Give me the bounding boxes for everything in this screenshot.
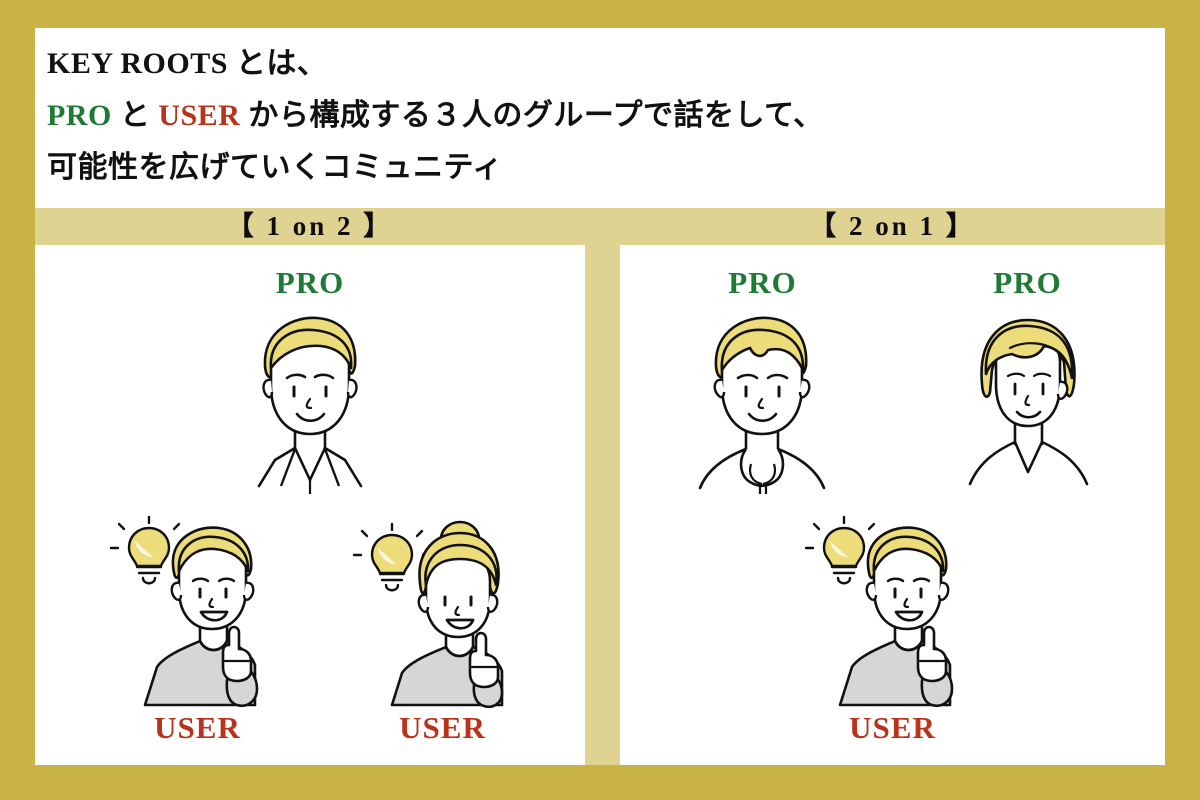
figure-pro-male-collar	[235, 304, 385, 494]
panel-two-on-one: PRO	[620, 245, 1165, 765]
section-title-one-on-two: 【 1 on 2 】	[35, 206, 585, 246]
role-label-user: USER	[785, 712, 1000, 743]
role-label-user: USER	[335, 712, 550, 743]
person-user1-one-on-two: USER	[90, 515, 305, 743]
headline-block: KEY ROOTS とは、 PRO と USER から構成する３人のグループで話…	[47, 38, 1147, 194]
person-pro2-two-on-one: PRO	[920, 267, 1135, 494]
role-label-user: USER	[90, 712, 305, 743]
headline-line-2-tail: から構成する３人のグループで話をして、	[240, 99, 823, 132]
panel-divider	[585, 208, 620, 765]
panel-one-on-two: PRO	[35, 245, 585, 765]
person-pro1-two-on-one: PRO	[655, 267, 870, 494]
section-title-two-on-one: 【 2 on 1 】	[620, 206, 1165, 246]
person-user-two-on-one: USER	[785, 515, 1000, 743]
content-card: KEY ROOTS とは、 PRO と USER から構成する３人のグループで話…	[35, 28, 1165, 765]
person-pro-one-on-two: PRO	[205, 267, 415, 494]
role-label-pro: PRO	[920, 267, 1135, 298]
headline-line-1: KEY ROOTS とは、	[47, 38, 1147, 90]
headline-line-2: PRO と USER から構成する３人のグループで話をして、	[47, 90, 1147, 142]
role-label-pro: PRO	[205, 267, 415, 298]
poster-root: KEY ROOTS とは、 PRO と USER から構成する３人のグループで話…	[0, 0, 1200, 800]
headline-line-3: 可能性を広げていくコミュニティ	[47, 142, 1147, 194]
figure-pro-male-hoodie	[688, 304, 838, 494]
headline-pro-word: PRO	[47, 99, 112, 132]
headline-user-word: USER	[158, 99, 240, 132]
figure-user-male-idea	[105, 515, 290, 710]
headline-conjunction: と	[112, 99, 159, 132]
figure-user-male-idea	[800, 515, 985, 710]
figure-pro-female-bob	[958, 304, 1098, 494]
figure-user-female-idea	[350, 515, 535, 710]
person-user2-one-on-two: USER	[335, 515, 550, 743]
role-label-pro: PRO	[655, 267, 870, 298]
